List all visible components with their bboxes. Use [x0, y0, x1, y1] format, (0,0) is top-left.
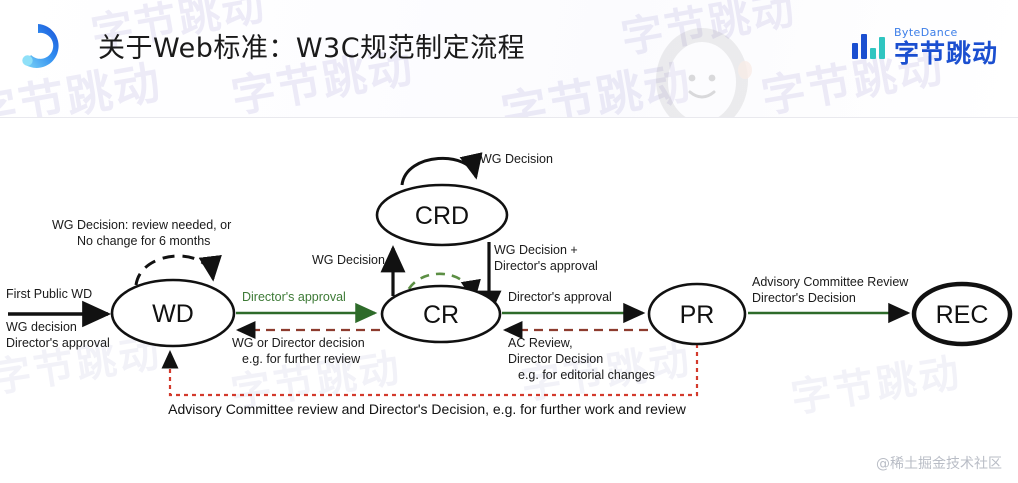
- node-label-crd: CRD: [415, 202, 469, 230]
- bytedance-name-cn: 字节跳动: [894, 41, 998, 66]
- bytedance-name-en: ByteDance: [894, 27, 998, 38]
- bytedance-bars-icon: [852, 33, 885, 59]
- edge-label-entry-director-approval: Director's approval: [6, 336, 110, 350]
- edge-label-pr-to-cr-line1: AC Review,: [508, 336, 573, 350]
- edge-label-crd-to-cr-line1: WG Decision +: [494, 243, 578, 257]
- edge-label-pr-to-rec-line1: Advisory Committee Review: [752, 275, 909, 289]
- edge-crd-self-loop: [402, 158, 476, 185]
- slide-header: 字节跳动 字节跳动 字节跳动 字节跳动 字节跳动 字节跳动: [0, 0, 1018, 118]
- node-label-rec: REC: [936, 301, 989, 329]
- node-label-pr: PR: [680, 301, 715, 329]
- page-title: 关于Web标准：W3C规范制定流程: [98, 26, 525, 65]
- node-cr[interactable]: CR: [382, 286, 500, 342]
- node-wd[interactable]: WD: [112, 280, 234, 346]
- header-watermark: 字节跳动: [616, 0, 800, 66]
- edge-label-entry-top: First Public WD: [6, 287, 92, 301]
- slide-page: 字节跳动 字节跳动 字节跳动 字节跳动 字节跳动 字节跳动: [0, 0, 1018, 483]
- diagram-bottom-caption: Advisory Committee review and Director's…: [168, 401, 687, 417]
- edge-label-pr-to-rec-line2: Director's Decision: [752, 291, 856, 305]
- community-watermark: @稀土掘金技术社区: [876, 453, 1002, 473]
- edge-label-entry-wg-decision: WG decision: [6, 320, 77, 334]
- diagram-area: 字节跳动 字节跳动 字节跳动 字节跳动 First Public WD WG d…: [0, 118, 1018, 483]
- edge-label-cr-to-crd: WG Decision: [312, 253, 385, 267]
- w3c-process-flow-diagram: First Public WD WG decision Director's a…: [0, 118, 1018, 483]
- edge-label-cr-to-pr: Director's approval: [508, 290, 612, 304]
- node-pr[interactable]: PR: [649, 284, 745, 344]
- bytedance-logo: ByteDance 字节跳动: [852, 24, 998, 68]
- node-rec[interactable]: REC: [914, 284, 1010, 344]
- edge-label-cr-to-wd-line2: e.g. for further review: [242, 352, 361, 366]
- edge-label-cr-to-wd-line1: WG or Director decision: [232, 336, 365, 350]
- node-label-cr: CR: [423, 301, 459, 329]
- edge-label-wd-to-cr: Director's approval: [242, 290, 346, 304]
- astronaut-mascot-icon: [640, 8, 770, 118]
- node-label-wd: WD: [152, 300, 194, 328]
- browser-circle-logo-icon: [14, 22, 62, 70]
- edge-label-crd-selfloop: WG Decision: [480, 152, 553, 166]
- header-watermark: 字节跳动: [496, 46, 697, 118]
- edge-label-pr-to-cr-line2: Director Decision: [508, 352, 603, 366]
- node-crd[interactable]: CRD: [377, 185, 507, 245]
- bytedance-wordmark: ByteDance 字节跳动: [894, 27, 998, 66]
- edge-label-wd-selfloop-line2: No change for 6 months: [77, 234, 210, 248]
- edge-label-wd-selfloop-line1: WG Decision: review needed, or: [52, 218, 231, 232]
- edge-label-pr-to-cr-line3: e.g. for editorial changes: [518, 368, 655, 382]
- edge-label-crd-to-cr-line2: Director's approval: [494, 259, 598, 273]
